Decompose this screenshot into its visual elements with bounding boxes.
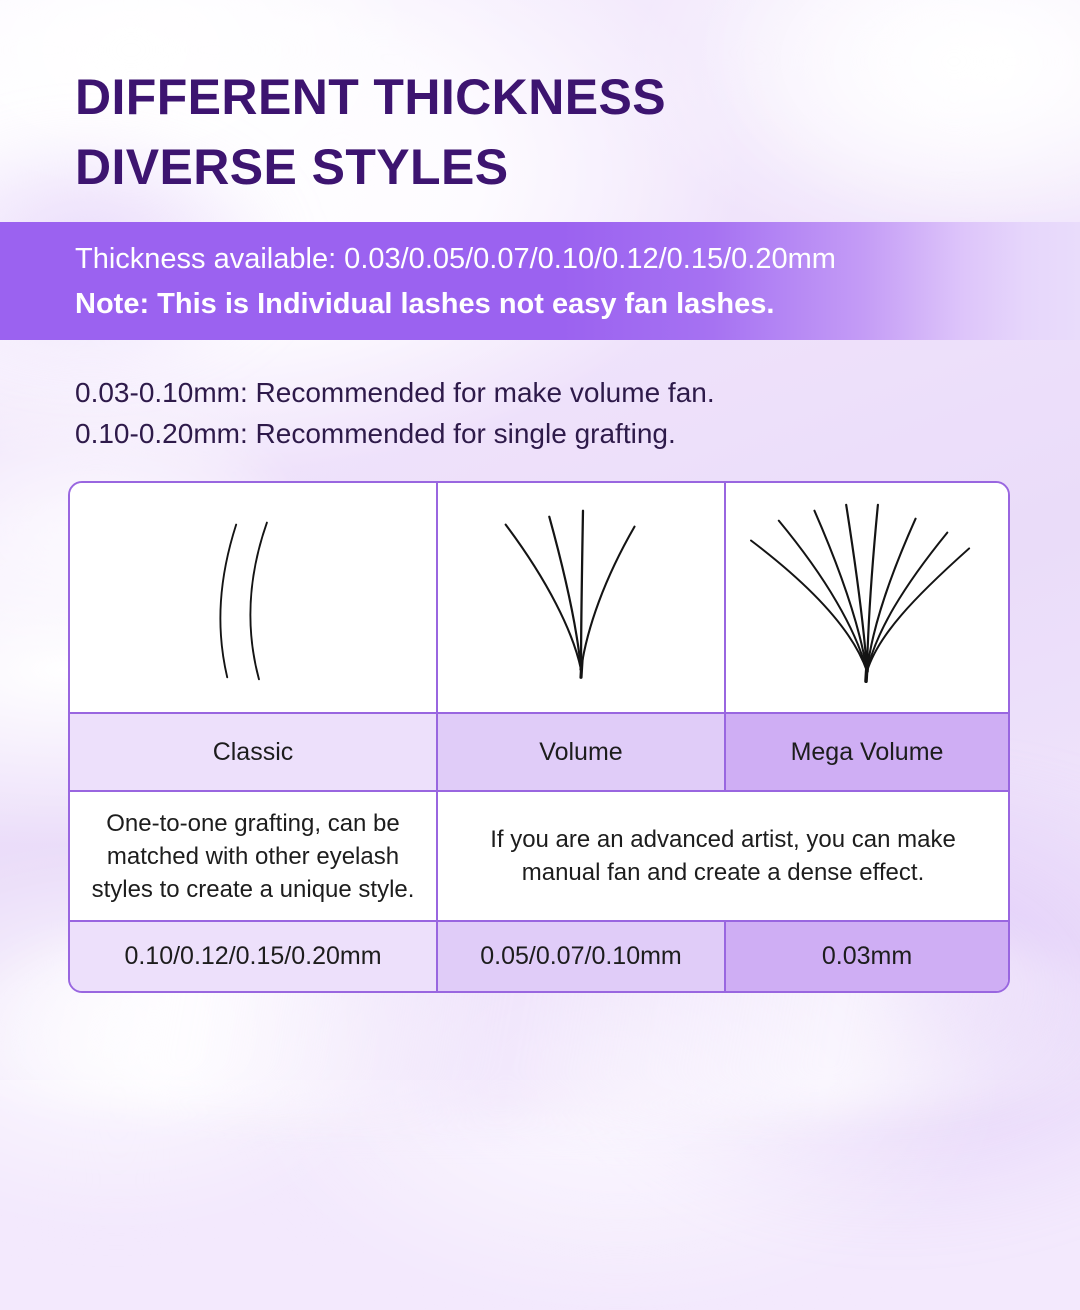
- banner-note: Note: This is Individual lashes not easy…: [75, 282, 1080, 326]
- lash-style-table: Classic Volume Mega Volume One-to-one gr…: [68, 481, 1010, 993]
- thickness-mega-volume: 0.03mm: [726, 922, 1008, 991]
- description-volume-and-mega: If you are an advanced artist, you can m…: [438, 792, 1008, 922]
- table-row-thickness: 0.10/0.12/0.15/0.20mm 0.05/0.07/0.10mm 0…: [70, 922, 1008, 991]
- table-row-illustrations: [70, 483, 1008, 714]
- style-name-mega-volume: Mega Volume: [726, 714, 1008, 792]
- thickness-classic: 0.10/0.12/0.15/0.20mm: [70, 922, 438, 991]
- thickness-available-label: Thickness available: 0.03/0.05/0.07/0.10…: [75, 236, 1080, 282]
- table-row-style-names: Classic Volume Mega Volume: [70, 714, 1008, 792]
- page-title-line-1: DIFFERENT THICKNESS: [75, 69, 666, 125]
- mega-volume-fan-illustration: [726, 483, 1008, 714]
- style-name-classic: Classic: [70, 714, 438, 792]
- page-title: DIFFERENT THICKNESS DIVERSE STYLES: [75, 62, 975, 202]
- thickness-volume: 0.05/0.07/0.10mm: [438, 922, 726, 991]
- page-title-line-2: DIVERSE STYLES: [75, 139, 508, 195]
- recommendation-list: 0.03-0.10mm: Recommended for make volume…: [75, 372, 715, 454]
- table-row-descriptions: One-to-one grafting, can be matched with…: [70, 792, 1008, 922]
- description-classic: One-to-one grafting, can be matched with…: [70, 792, 438, 922]
- style-name-volume: Volume: [438, 714, 726, 792]
- recommendation-single-grafting: 0.10-0.20mm: Recommended for single graf…: [75, 413, 715, 454]
- volume-fan-illustration: [438, 483, 726, 714]
- recommendation-volume-fan: 0.03-0.10mm: Recommended for make volume…: [75, 372, 715, 413]
- thickness-banner: Thickness available: 0.03/0.05/0.07/0.10…: [0, 222, 1080, 340]
- classic-lash-illustration: [70, 483, 438, 714]
